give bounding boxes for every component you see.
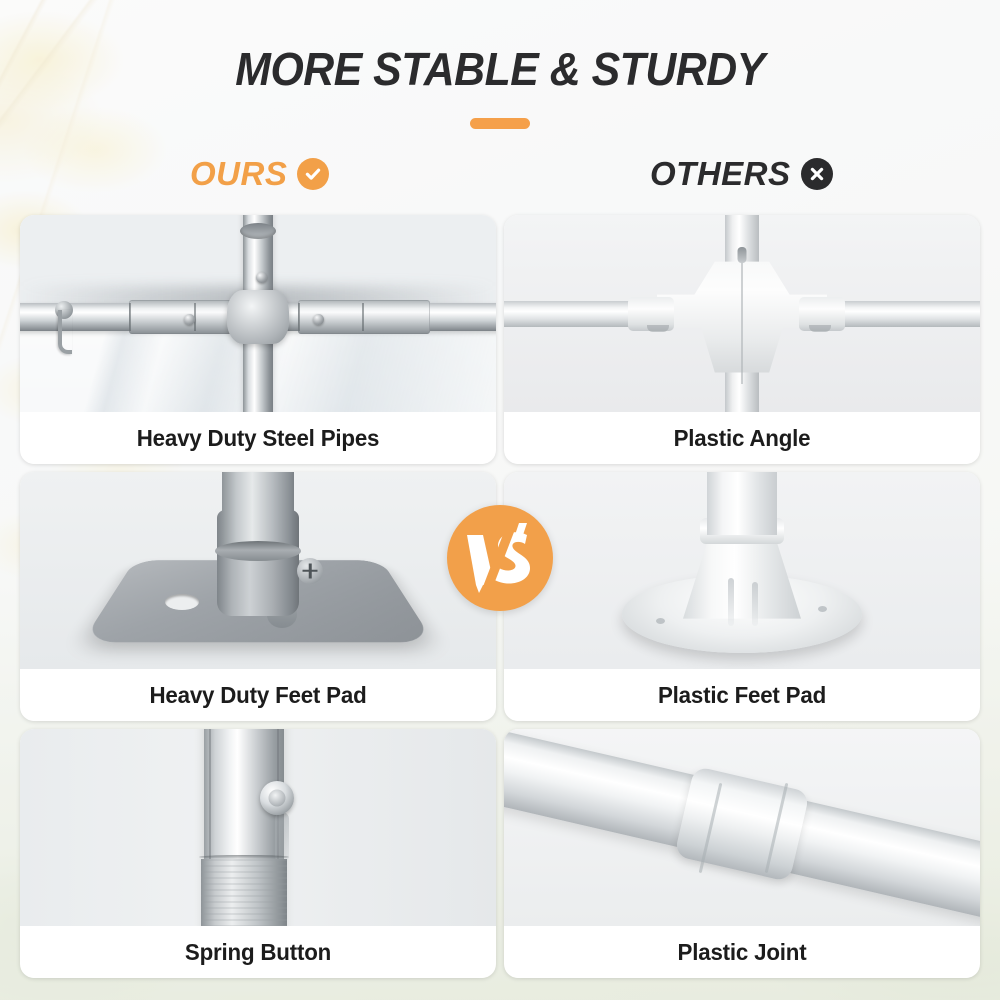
card-caption: Spring Button — [27, 926, 489, 978]
card-heavy-duty-feet-pad[interactable]: Heavy Duty Feet Pad — [20, 472, 496, 721]
check-circle-icon — [297, 158, 329, 190]
others-label-text: OTHERS — [650, 155, 791, 193]
steel-cross-joint-photo — [20, 215, 496, 412]
card-caption: Heavy Duty Feet Pad — [27, 669, 489, 721]
x-circle-icon — [801, 158, 833, 190]
page-title: MORE STABLE & STURDY — [35, 42, 965, 96]
ours-label-text: OURS — [190, 155, 287, 193]
steel-pipe-spring-button-photo — [20, 729, 496, 926]
card-plastic-joint[interactable]: Plastic Joint — [504, 729, 980, 978]
column-label-ours: OURS — [190, 155, 329, 193]
column-labels: OURS OTHERS — [0, 155, 1000, 205]
card-caption: Plastic Angle — [511, 412, 973, 464]
card-heavy-duty-steel-pipes[interactable]: Heavy Duty Steel Pipes — [20, 215, 496, 464]
plastic-angle-fitting-photo — [504, 215, 980, 412]
card-caption: Heavy Duty Steel Pipes — [27, 412, 489, 464]
vs-badge — [447, 505, 553, 611]
card-plastic-feet-pad[interactable]: Plastic Feet Pad — [504, 472, 980, 721]
promo-banner: MORE STABLE & STURDY OURS OTHERS — [0, 0, 1000, 1000]
plastic-pipe-joint-photo — [504, 729, 980, 926]
steel-base-plate-photo — [20, 472, 496, 669]
column-label-others: OTHERS — [650, 155, 833, 193]
card-plastic-angle[interactable]: Plastic Angle — [504, 215, 980, 464]
plastic-base-flange-photo — [504, 472, 980, 669]
card-spring-button[interactable]: Spring Button — [20, 729, 496, 978]
card-caption: Plastic Feet Pad — [511, 669, 973, 721]
card-caption: Plastic Joint — [511, 926, 973, 978]
title-divider — [470, 118, 530, 129]
